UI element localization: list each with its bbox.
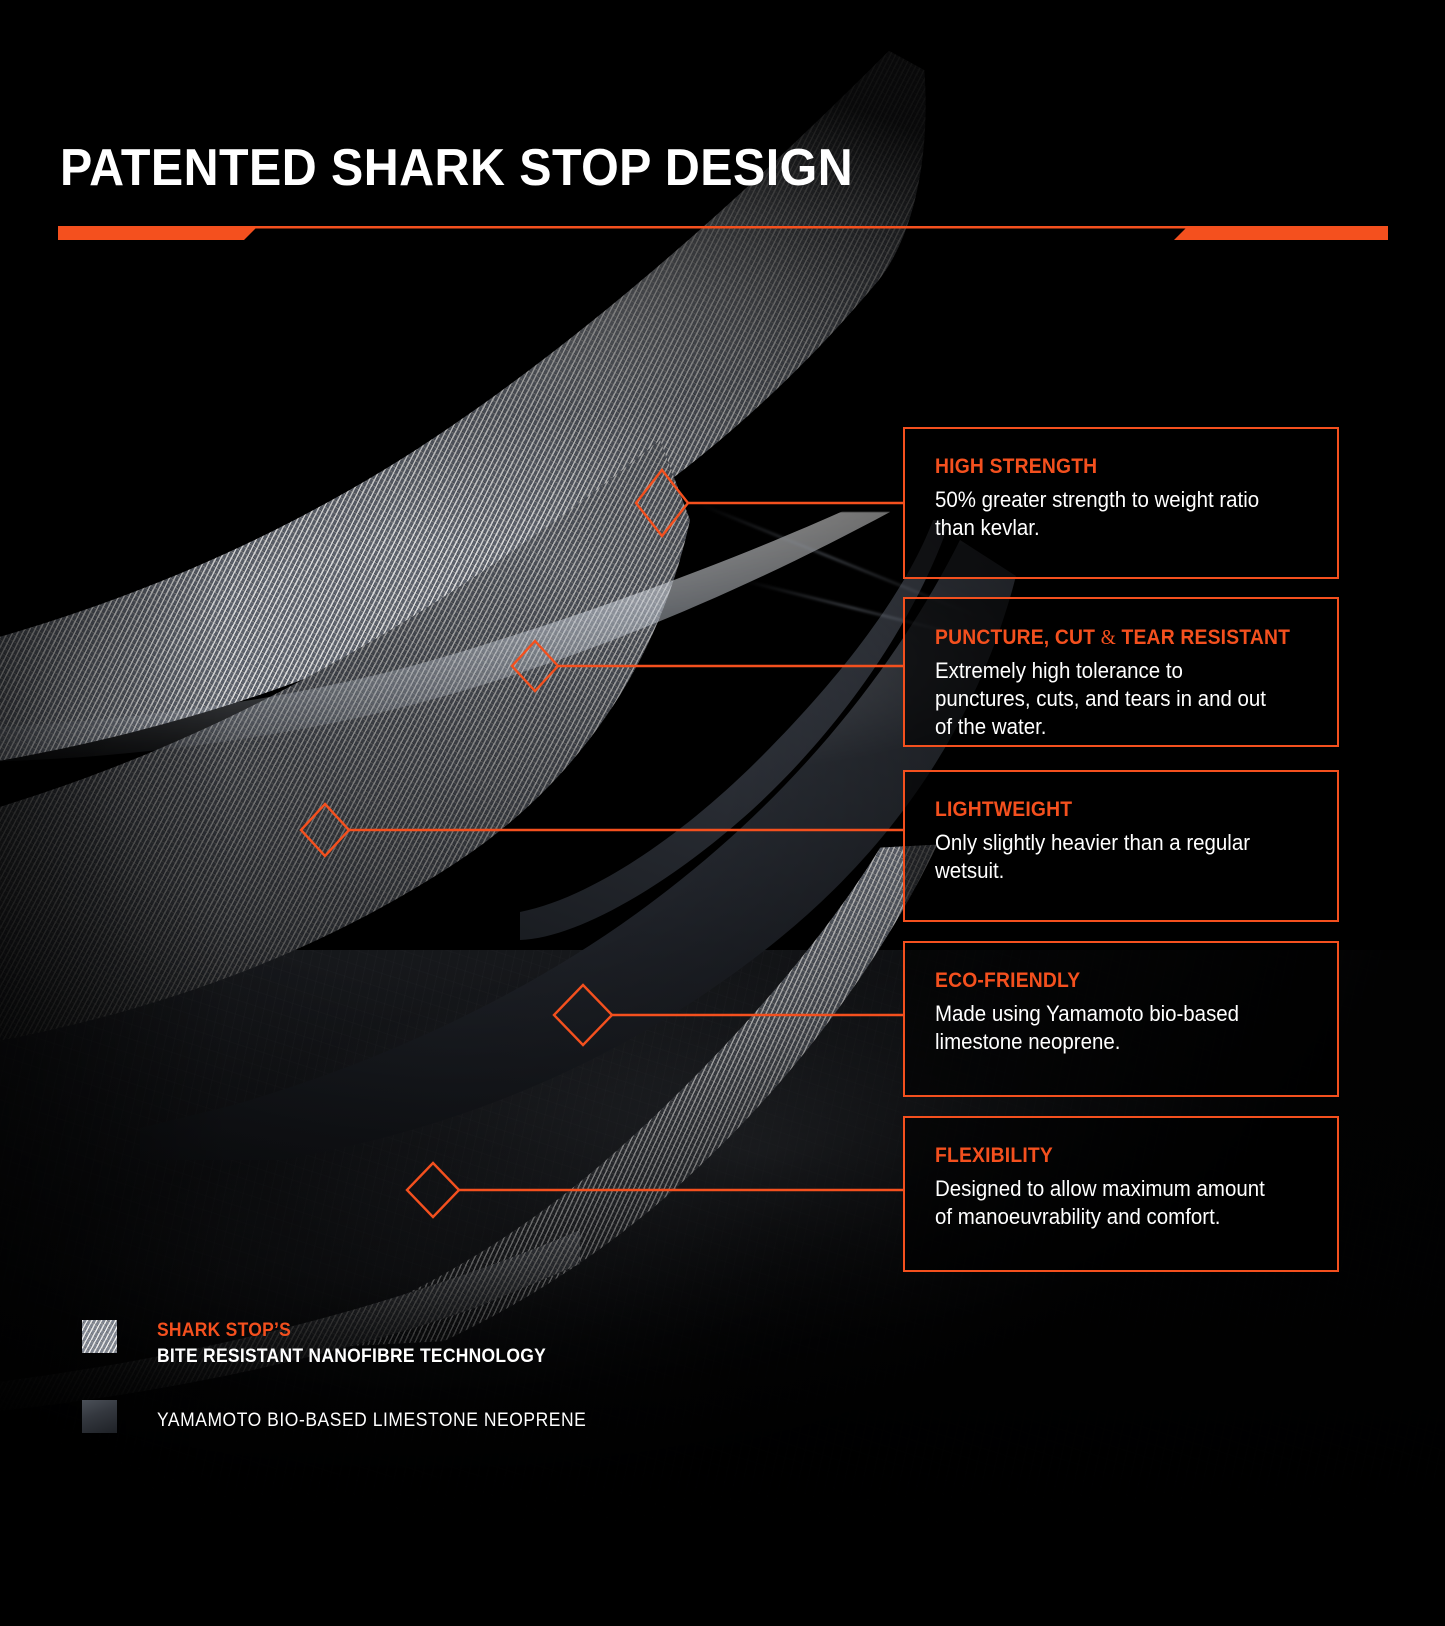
callout-high-strength[interactable]: HIGH STRENGTH 50% greater strength to we… [903,427,1339,579]
callout-body: Made using Yamamoto bio-based limestone … [935,1000,1281,1056]
title-accent-rule [58,222,1388,244]
callout-body: Extremely high tolerance to punctures, c… [935,657,1281,741]
legend-description: YAMAMOTO BIO-BASED LIMESTONE NEOPRENE [157,1410,586,1432]
callout-puncture-cut-tear-resistant[interactable]: PUNCTURE, CUT & TEAR RESISTANT Extremely… [903,597,1339,747]
callout-body: 50% greater strength to weight ratio tha… [935,486,1281,542]
callout-body: Only slightly heavier than a regular wet… [935,829,1281,885]
infographic-page: PATENTED SHARK STOP DESIGN [0,0,1445,1626]
ampersand-glyph: & [1101,625,1116,649]
legend-text: YAMAMOTO BIO-BASED LIMESTONE NEOPRENE [157,1406,624,1432]
legend-description: BITE RESISTANT NANOFIBRE TECHNOLOGY [157,1346,546,1368]
callout-body: Designed to allow maximum amount of mano… [935,1175,1281,1231]
callout-title: LIGHTWEIGHT [935,798,1277,822]
page-title: PATENTED SHARK STOP DESIGN [60,142,853,194]
legend-brand-label: SHARK STOP’S [157,1320,546,1342]
callout-flexibility[interactable]: FLEXIBILITY Designed to allow maximum am… [903,1116,1339,1272]
callout-title: FLEXIBILITY [935,1144,1277,1168]
callout-title: ECO-FRIENDLY [935,969,1277,993]
callout-lightweight[interactable]: LIGHTWEIGHT Only slightly heavier than a… [903,770,1339,922]
callout-eco-friendly[interactable]: ECO-FRIENDLY Made using Yamamoto bio-bas… [903,941,1339,1097]
legend-item-nanofibre: SHARK STOP’S BITE RESISTANT NANOFIBRE TE… [82,1320,580,1368]
callout-title-part1: PUNCTURE, CUT [935,626,1101,649]
callout-title-part2: TEAR RESISTANT [1116,626,1290,649]
woven-nanofibre-swatch-icon [82,1320,117,1353]
callout-title: PUNCTURE, CUT & TEAR RESISTANT [935,625,1277,650]
legend-text: SHARK STOP’S BITE RESISTANT NANOFIBRE TE… [157,1320,580,1368]
legend-item-neoprene: YAMAMOTO BIO-BASED LIMESTONE NEOPRENE [82,1400,624,1433]
callout-title: HIGH STRENGTH [935,455,1277,479]
smooth-neoprene-swatch-icon [82,1400,117,1433]
